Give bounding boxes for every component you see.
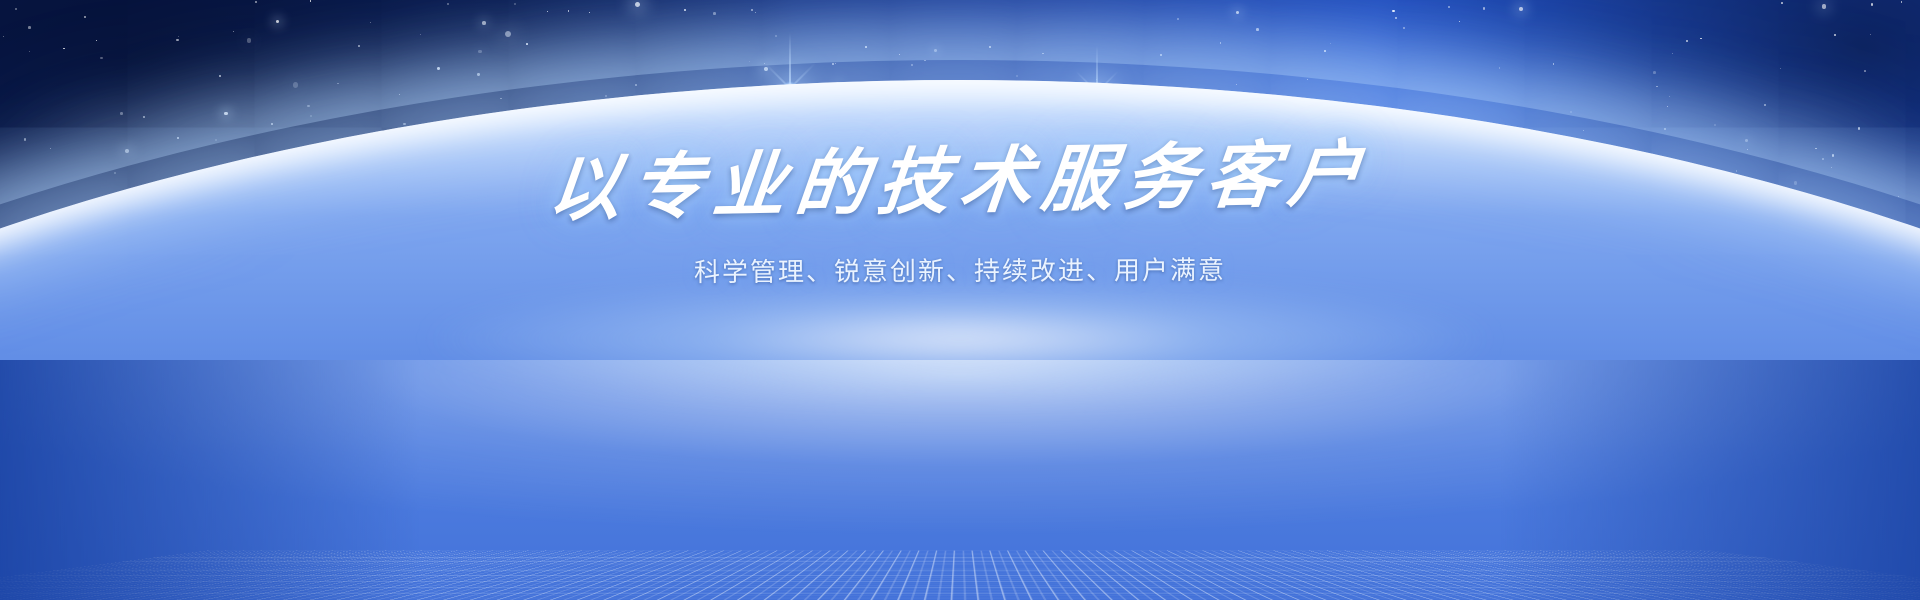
- star: [482, 21, 486, 25]
- star: [684, 9, 686, 11]
- star: [3, 36, 4, 37]
- star: [751, 9, 754, 12]
- star: [1519, 7, 1523, 11]
- star: [1834, 34, 1837, 37]
- star: [28, 26, 31, 29]
- star: [399, 94, 400, 95]
- star: [1553, 63, 1555, 65]
- star: [477, 73, 479, 75]
- star: [1870, 34, 1871, 35]
- star: [1499, 67, 1501, 69]
- banner-headline: 以专业的技术服务客户: [0, 122, 1920, 242]
- star: [505, 31, 511, 37]
- star: [96, 40, 97, 41]
- star: [1686, 40, 1688, 42]
- star: [420, 34, 421, 35]
- star: [1901, 1, 1902, 2]
- star: [1780, 68, 1782, 70]
- star: [1459, 21, 1460, 22]
- star: [755, 12, 756, 13]
- star: [1483, 7, 1486, 10]
- banner-subline: 科学管理、锐意创新、持续改进、用户满意: [0, 247, 1920, 292]
- star: [989, 46, 991, 48]
- star: [219, 75, 221, 77]
- star: [1160, 54, 1162, 56]
- star: [899, 54, 900, 55]
- star: [1042, 53, 1044, 55]
- star: [437, 67, 440, 70]
- star: [1672, 53, 1674, 55]
- star: [1330, 43, 1331, 44]
- hero-banner: 以专业的技术服务客户 科学管理、锐意创新、持续改进、用户满意: [0, 0, 1920, 600]
- star: [15, 8, 18, 11]
- star: [1392, 10, 1395, 13]
- star: [478, 50, 482, 54]
- city-light-grid: [0, 360, 1920, 600]
- star: [1781, 2, 1783, 4]
- star: [1448, 6, 1451, 9]
- star: [526, 43, 528, 45]
- star: [1669, 96, 1670, 97]
- star: [749, 61, 750, 62]
- star: [337, 83, 338, 84]
- star: [293, 82, 299, 88]
- star: [865, 46, 867, 48]
- star: [1700, 38, 1702, 40]
- star: [1236, 11, 1240, 15]
- star: [1177, 18, 1179, 20]
- star: [1256, 28, 1259, 31]
- star: [233, 31, 235, 33]
- star: [635, 2, 640, 7]
- star: [178, 36, 179, 37]
- star: [276, 20, 280, 24]
- star: [934, 49, 937, 52]
- city-fade-left: [0, 360, 420, 600]
- star: [713, 12, 716, 15]
- star: [568, 10, 570, 12]
- star: [514, 3, 516, 5]
- star: [447, 3, 449, 5]
- star: [84, 16, 86, 18]
- star: [358, 45, 360, 47]
- star: [176, 39, 179, 42]
- star: [255, 1, 257, 3]
- star: [1653, 71, 1656, 74]
- banner-content: 以专业的技术服务客户 科学管理、锐意创新、持续改进、用户满意: [0, 140, 1920, 288]
- star: [1403, 27, 1405, 29]
- star: [247, 38, 252, 43]
- star: [370, 22, 371, 23]
- star: [310, 0, 311, 1]
- star: [29, 51, 30, 52]
- star: [589, 12, 590, 13]
- star: [1220, 42, 1222, 44]
- city-fade-right: [1500, 360, 1920, 600]
- star: [1324, 50, 1326, 52]
- star: [100, 57, 102, 59]
- star: [1395, 17, 1397, 19]
- star: [1871, 3, 1874, 6]
- star: [547, 11, 548, 12]
- star: [63, 48, 65, 50]
- star: [1864, 70, 1866, 72]
- star: [1822, 4, 1827, 9]
- star: [1656, 86, 1658, 88]
- star: [775, 35, 777, 37]
